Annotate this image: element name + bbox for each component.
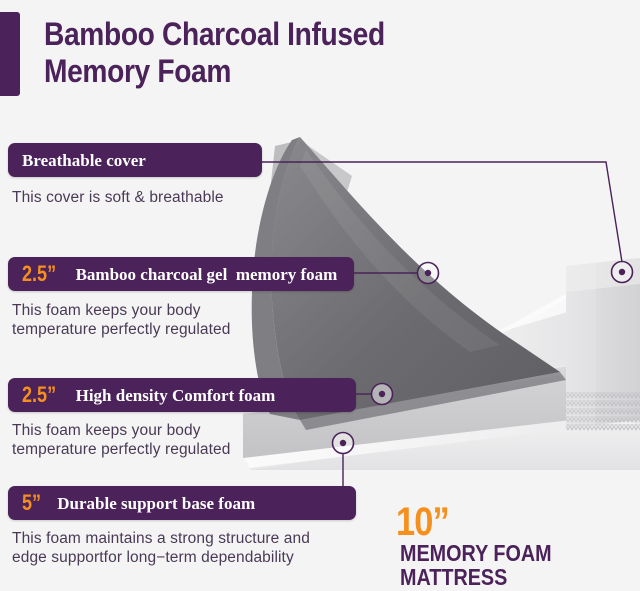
mattress-height-label: MEMORY FOAM MATTRESS: [400, 542, 552, 589]
header-accent-bar: [0, 12, 20, 96]
marker-durable-support-base: [333, 433, 354, 454]
callout-measure-high-density-comfort: 2.5”: [22, 384, 56, 406]
callout-label-durable-support-base: Durable support base foam: [57, 495, 255, 512]
callout-description-breathable-cover: This cover is soft & breathable: [12, 189, 292, 208]
callout-description-bamboo-charcoal-gel: This foam keeps your body temperature pe…: [12, 302, 312, 340]
callout-badge-breathable-cover[interactable]: Breathable cover: [8, 143, 262, 177]
callout-label-high-density-comfort: High density Comfort foam: [76, 387, 276, 404]
callout-badge-durable-support-base[interactable]: 5” Durable support base foam: [8, 486, 356, 520]
callout-description-high-density-comfort: This foam keeps your body temperature pe…: [12, 422, 312, 460]
callout-measure-durable-support-base: 5”: [22, 492, 41, 514]
callout-label-bamboo-charcoal-gel: Bamboo charcoal gel memory foam: [76, 266, 338, 283]
marker-high-density-comfort: [372, 384, 393, 405]
callout-badge-high-density-comfort[interactable]: 2.5” High density Comfort foam: [8, 378, 356, 412]
callout-label-breathable-cover: Breathable cover: [22, 152, 146, 169]
callout-measure-bamboo-charcoal-gel: 2.5”: [22, 263, 56, 285]
mattress-height-value: 10”: [396, 503, 449, 542]
callout-badge-bamboo-charcoal-gel[interactable]: 2.5” Bamboo charcoal gel memory foam: [8, 257, 354, 291]
marker-bamboo-charcoal-gel: [418, 263, 439, 284]
callout-description-durable-support-base: This foam maintains a strong structure a…: [12, 530, 382, 568]
marker-breathable-cover: [612, 262, 633, 283]
page-title: Bamboo Charcoal Infused Memory Foam: [44, 16, 502, 90]
mattress-fabric-edge: [566, 258, 640, 432]
infographic-root: Bamboo Charcoal Infused Memory Foam Brea…: [0, 0, 640, 591]
mattress-height-callout: 10”MEMORY FOAM MATTRESS: [396, 503, 636, 589]
